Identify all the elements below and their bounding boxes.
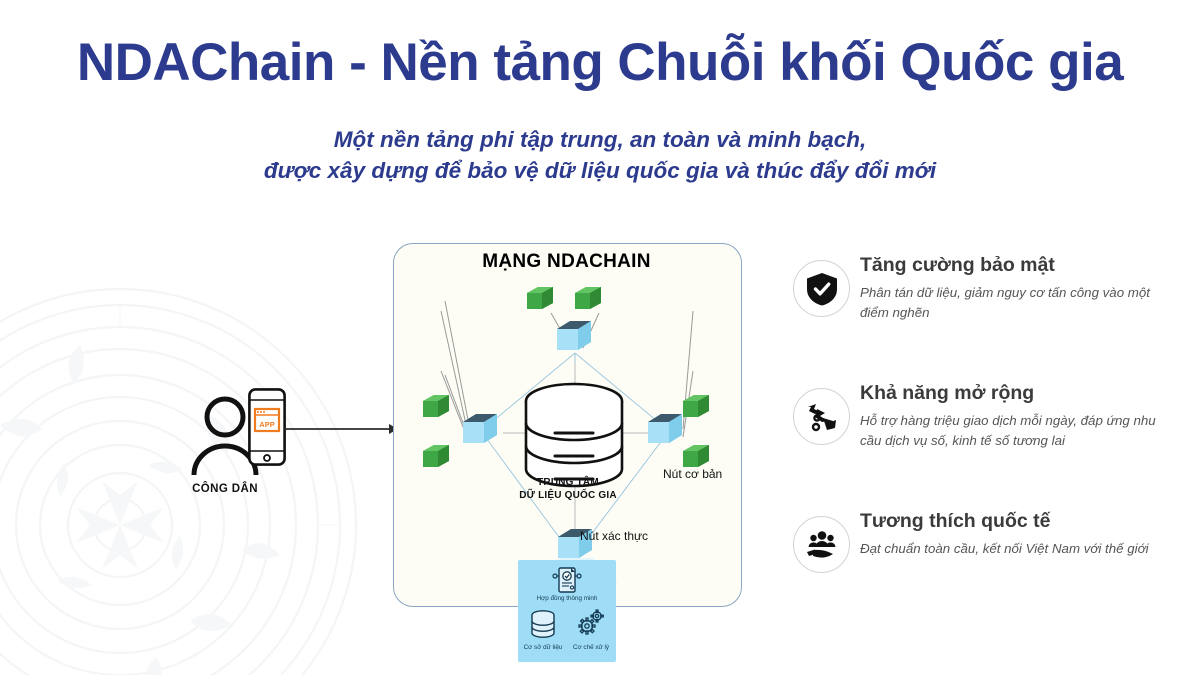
feature-title: Khả năng mở rộng: [860, 380, 1188, 406]
feature-item-scalability: Khả năng mở rộng Hỗ trợ hàng triệu giao …: [793, 380, 1188, 472]
feature-title: Tăng cường bảo mật: [860, 252, 1188, 278]
feature-body: Khả năng mở rộng Hỗ trợ hàng triệu giao …: [860, 380, 1188, 451]
validator-node-label: Nút xác thực: [580, 529, 648, 543]
feature-title: Tương thích quốc tế: [860, 508, 1188, 534]
feature-description: Phân tán dữ liệu, giảm nguy cơ tấn công …: [860, 283, 1160, 323]
scalability-arrows-icon: [805, 400, 839, 434]
basic-node-cube: [527, 287, 553, 309]
basic-node-cube: [575, 287, 601, 309]
national-data-center-icon: [526, 384, 622, 486]
shield-check-icon: [806, 272, 838, 306]
basic-node-cube: [423, 395, 449, 417]
processing-label: Cơ chế xử lý: [568, 644, 614, 651]
svg-text:APP: APP: [259, 420, 274, 429]
data-center-label-line1: TRUNG TÂM: [537, 477, 599, 488]
data-center-label: TRUNG TÂM DỮ LIỆU QUỐC GIA: [498, 477, 638, 502]
subtitle-line-1: Một nền tảng phi tập trung, an toàn và m…: [334, 127, 867, 152]
smart-contract-title: Hợp đồng thông minh: [518, 595, 616, 602]
page-subtitle: Một nền tảng phi tập trung, an toàn và m…: [0, 124, 1200, 186]
shield-check-icon-wrapper: [793, 260, 850, 317]
database-icon: [528, 608, 558, 640]
smartphone-app-icon: APP: [248, 388, 286, 466]
scalability-arrows-icon-wrapper: [793, 388, 850, 445]
basic-node-cube: [683, 445, 709, 467]
subtitle-line-2: được xây dựng để bảo vệ dữ liệu quốc gia…: [0, 155, 1200, 186]
validator-node-cube: [557, 321, 591, 350]
smart-contract-card-content: Hợp đồng thông minh Cơ sở dữ liệu: [518, 560, 616, 662]
feature-description: Đạt chuẩn toàn cầu, kết nối Việt Nam với…: [860, 539, 1160, 559]
citizen-to-network-arrow: [284, 418, 398, 440]
feature-body: Tương thích quốc tế Đạt chuẩn toàn cầu, …: [860, 508, 1188, 559]
basic-node-cube: [683, 395, 709, 417]
feature-list: Tăng cường bảo mật Phân tán dữ liệu, giả…: [793, 252, 1188, 636]
page-title: NDAChain - Nền tảng Chuỗi khối Quốc gia: [0, 32, 1200, 93]
hand-people-icon-wrapper: [793, 516, 850, 573]
feature-body: Tăng cường bảo mật Phân tán dữ liệu, giả…: [860, 252, 1188, 323]
database-label: Cơ sở dữ liệu: [520, 644, 566, 651]
gears-processing-icon: [574, 606, 608, 640]
data-center-label-line2: DỮ LIỆU QUỐC GIA: [519, 490, 617, 501]
basic-node-cube: [423, 445, 449, 467]
feature-description: Hỗ trợ hàng triệu giao dịch mỗi ngày, đá…: [860, 411, 1160, 451]
basic-node-label: Nút cơ bản: [663, 467, 722, 481]
hand-people-icon: [805, 529, 839, 561]
slide-canvas: NDAChain - Nền tảng Chuỗi khối Quốc gia …: [0, 0, 1200, 675]
citizen-label: CÔNG DÂN: [160, 483, 290, 495]
feature-item-international: Tương thích quốc tế Đạt chuẩn toàn cầu, …: [793, 508, 1188, 600]
bronze-drum-watermark: [0, 285, 360, 675]
feature-item-security: Tăng cường bảo mật Phân tán dữ liệu, giả…: [793, 252, 1188, 344]
smart-contract-document-icon: [551, 566, 583, 594]
